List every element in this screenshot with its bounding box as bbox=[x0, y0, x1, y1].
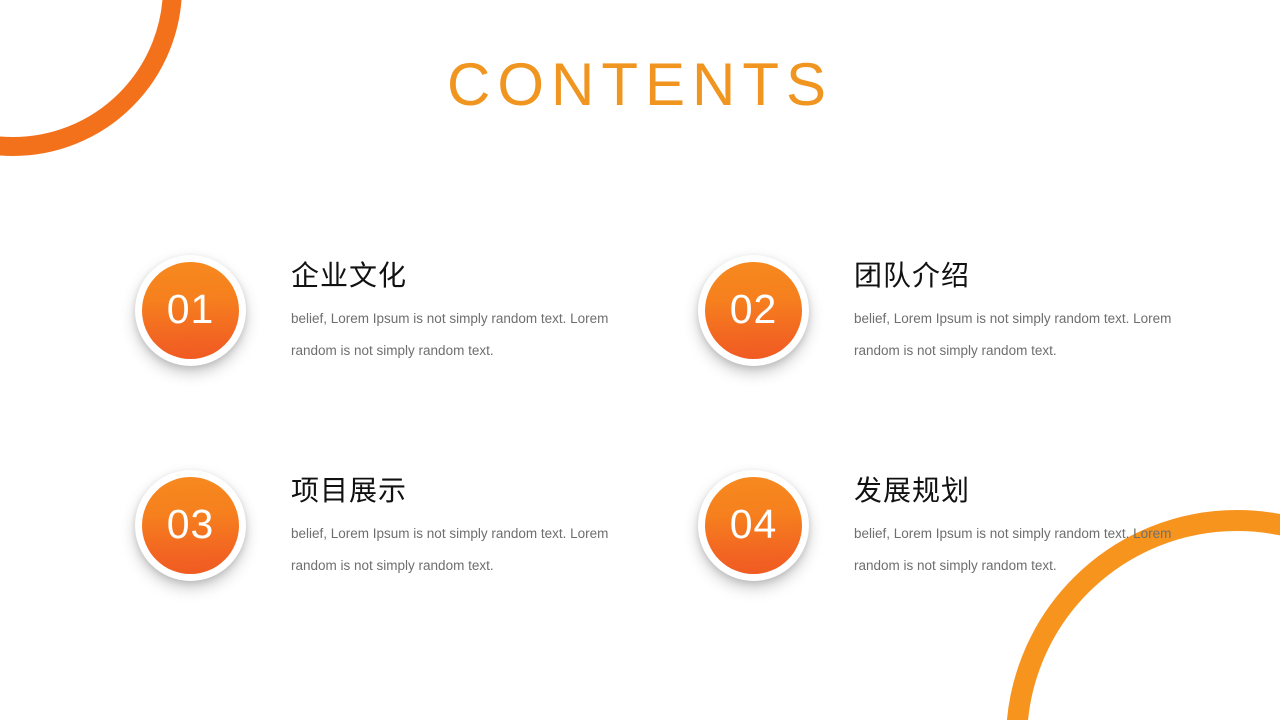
item-text-block: 项目展示 belief, Lorem Ipsum is not simply r… bbox=[291, 470, 646, 581]
badge-number: 03 bbox=[167, 504, 215, 545]
number-badge[interactable]: 01 bbox=[135, 255, 246, 366]
contents-item-02[interactable]: 02 团队介绍 belief, Lorem Ipsum is not simpl… bbox=[698, 255, 1209, 366]
item-heading: 项目展示 bbox=[291, 473, 646, 508]
badge-number: 04 bbox=[730, 504, 778, 545]
badge-number: 02 bbox=[730, 289, 778, 330]
number-badge[interactable]: 04 bbox=[698, 470, 809, 581]
badge-fill: 02 bbox=[705, 262, 802, 359]
item-body: belief, Lorem Ipsum is not simply random… bbox=[291, 303, 646, 366]
item-text-block: 团队介绍 belief, Lorem Ipsum is not simply r… bbox=[854, 255, 1209, 366]
item-text-block: 企业文化 belief, Lorem Ipsum is not simply r… bbox=[291, 255, 646, 366]
contents-list: 01 企业文化 belief, Lorem Ipsum is not simpl… bbox=[0, 0, 1280, 720]
item-heading: 发展规划 bbox=[854, 473, 1209, 508]
badge-fill: 03 bbox=[142, 477, 239, 574]
badge-fill: 04 bbox=[705, 477, 802, 574]
item-body: belief, Lorem Ipsum is not simply random… bbox=[291, 518, 646, 581]
contents-slide: CONTENTS 01 企业文化 belief, Lorem Ipsum is … bbox=[0, 0, 1280, 720]
contents-item-04[interactable]: 04 发展规划 belief, Lorem Ipsum is not simpl… bbox=[698, 470, 1209, 581]
item-body: belief, Lorem Ipsum is not simply random… bbox=[854, 303, 1209, 366]
item-heading: 团队介绍 bbox=[854, 258, 1209, 293]
number-badge[interactable]: 02 bbox=[698, 255, 809, 366]
badge-fill: 01 bbox=[142, 262, 239, 359]
item-text-block: 发展规划 belief, Lorem Ipsum is not simply r… bbox=[854, 470, 1209, 581]
badge-number: 01 bbox=[167, 289, 215, 330]
contents-item-03[interactable]: 03 项目展示 belief, Lorem Ipsum is not simpl… bbox=[135, 470, 646, 581]
number-badge[interactable]: 03 bbox=[135, 470, 246, 581]
item-body: belief, Lorem Ipsum is not simply random… bbox=[854, 518, 1209, 581]
contents-item-01[interactable]: 01 企业文化 belief, Lorem Ipsum is not simpl… bbox=[135, 255, 646, 366]
item-heading: 企业文化 bbox=[291, 258, 646, 293]
